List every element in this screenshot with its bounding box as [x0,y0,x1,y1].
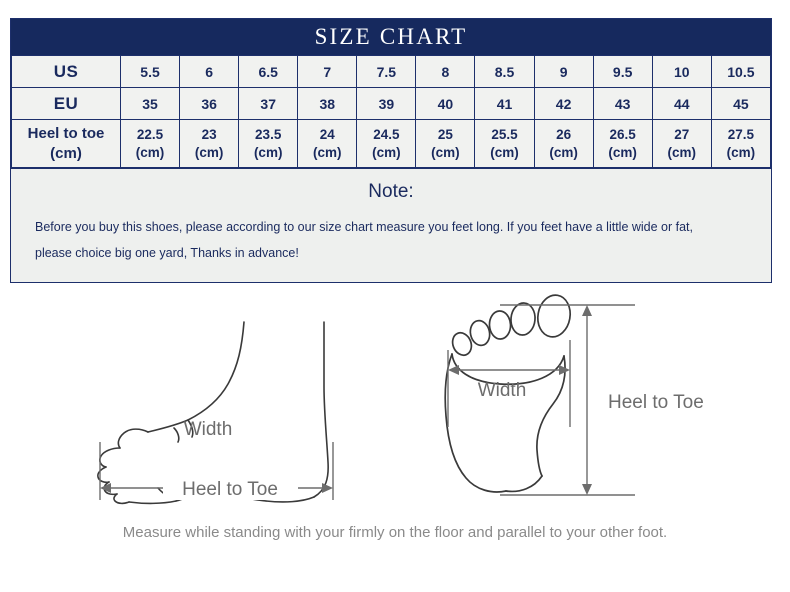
cell-heel-3-unit: (cm) [298,144,356,161]
cell-eu-5: 40 [416,88,475,120]
cell-heel-4-unit: (cm) [357,144,415,161]
cell-heel-10-unit: (cm) [712,144,770,161]
cell-heel-9-value: 27 [674,127,689,142]
cell-us-6: 8.5 [475,56,534,88]
table-row-heel-to-toe: Heel to toe (cm) 22.5 (cm) 23 (cm) 23.5 … [12,120,771,168]
page-title: SIZE CHART [315,24,468,50]
cell-heel-1-value: 23 [202,127,217,142]
cell-heel-0-unit: (cm) [121,144,179,161]
cell-heel-9-unit: (cm) [653,144,711,161]
cell-heel-0-value: 22.5 [137,127,163,142]
note-line-2: please choice big one yard, Thanks in ad… [35,241,747,267]
cell-heel-5-unit: (cm) [416,144,474,161]
heel-to-toe-label-sole: Heel to Toe [608,392,704,413]
note-line-1: Before you buy this shoes, please accord… [35,215,747,241]
cell-heel-10-value: 27.5 [728,127,754,142]
width-label-side: Width [184,419,233,440]
note-section: Note: Before you buy this shoes, please … [11,168,771,282]
cell-eu-9: 44 [652,88,711,120]
measurement-caption: Measure while standing with your firmly … [0,524,790,541]
cell-heel-5: 25 (cm) [416,120,475,168]
note-heading: Note: [11,181,771,203]
cell-us-9: 10 [652,56,711,88]
cell-heel-1: 23 (cm) [180,120,239,168]
cell-eu-1: 36 [180,88,239,120]
size-chart-panel: SIZE CHART US 5.5 6 6.5 7 7.5 8 8.5 9 9.… [10,18,772,283]
width-label-sole: Width [478,380,527,401]
cell-heel-7-value: 26 [556,127,571,142]
cell-heel-1-unit: (cm) [180,144,238,161]
cell-heel-0: 22.5 (cm) [121,120,180,168]
cell-heel-2-unit: (cm) [239,144,297,161]
row-label-heel-to-toe-text: Heel to toe [28,125,105,142]
cell-us-8: 9.5 [593,56,652,88]
cell-us-2: 6.5 [239,56,298,88]
cell-us-3: 7 [298,56,357,88]
cell-eu-4: 39 [357,88,416,120]
cell-heel-7-unit: (cm) [535,144,593,161]
row-label-heel-to-toe: Heel to toe (cm) [12,120,121,168]
row-label-us: US [12,56,121,88]
foot-sole-print-diagram: Width Heel to Toe [440,292,760,522]
size-chart-title-bar: SIZE CHART [11,19,771,55]
cell-heel-6-unit: (cm) [475,144,533,161]
table-row-us: US 5.5 6 6.5 7 7.5 8 8.5 9 9.5 10 10.5 [12,56,771,88]
cell-eu-10: 45 [711,88,770,120]
foot-side-profile-diagram: Heel to Toe Width [70,292,390,522]
cell-heel-6-value: 25.5 [491,127,517,142]
row-label-heel-to-toe-unit: (cm) [12,144,120,163]
cell-heel-8: 26.5 (cm) [593,120,652,168]
cell-heel-9: 27 (cm) [652,120,711,168]
cell-us-7: 9 [534,56,593,88]
size-chart-table: US 5.5 6 6.5 7 7.5 8 8.5 9 9.5 10 10.5 E… [11,55,771,168]
cell-us-1: 6 [180,56,239,88]
cell-heel-10: 27.5 (cm) [711,120,770,168]
cell-heel-4: 24.5 (cm) [357,120,416,168]
cell-heel-2: 23.5 (cm) [239,120,298,168]
cell-heel-2-value: 23.5 [255,127,281,142]
cell-heel-8-value: 26.5 [610,127,636,142]
cell-heel-8-unit: (cm) [594,144,652,161]
cell-eu-0: 35 [121,88,180,120]
cell-eu-3: 38 [298,88,357,120]
cell-heel-7: 26 (cm) [534,120,593,168]
cell-heel-4-value: 24.5 [373,127,399,142]
heel-to-toe-label-side: Heel to Toe [182,479,278,500]
cell-us-0: 5.5 [121,56,180,88]
cell-eu-2: 37 [239,88,298,120]
table-row-eu: EU 35 36 37 38 39 40 41 42 43 44 45 [12,88,771,120]
cell-heel-3-value: 24 [320,127,335,142]
measurement-diagrams: Heel to Toe Width Widt [0,292,790,592]
cell-us-5: 8 [416,56,475,88]
cell-heel-5-value: 25 [438,127,453,142]
note-body: Before you buy this shoes, please accord… [11,215,771,266]
cell-us-4: 7.5 [357,56,416,88]
cell-eu-7: 42 [534,88,593,120]
cell-eu-8: 43 [593,88,652,120]
cell-heel-6: 25.5 (cm) [475,120,534,168]
row-label-eu: EU [12,88,121,120]
cell-eu-6: 41 [475,88,534,120]
cell-heel-3: 24 (cm) [298,120,357,168]
cell-us-10: 10.5 [711,56,770,88]
